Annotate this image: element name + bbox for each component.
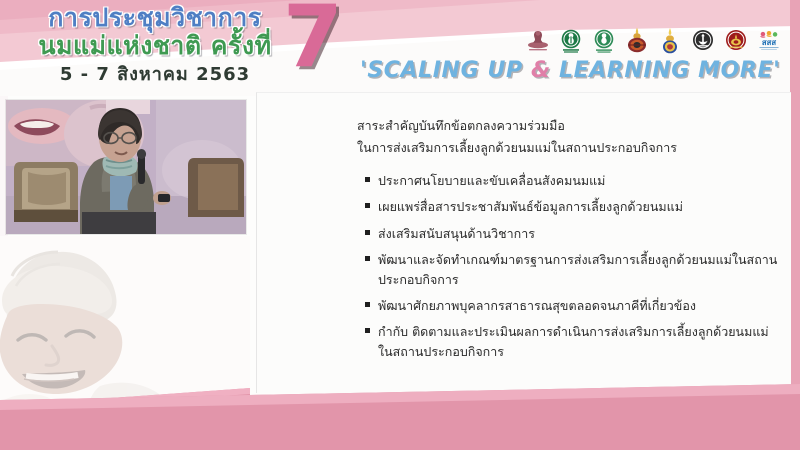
content-heading-line1: สาระสำคัญบันทึกข้อตกลงความร่วมมือ (357, 115, 777, 137)
list-item: ส่งเสริมสนับสนุนด้านวิชาการ (365, 224, 780, 243)
list-item: กำกับ ติดตามและประเมินผลการดำเนินการส่งเ… (365, 322, 780, 361)
square-bullet-icon (365, 256, 370, 261)
list-item-label: ส่งเสริมสนับสนุนด้านวิชาการ (378, 224, 780, 243)
list-item-label: เผยแพร่สื่อสารประชาสัมพันธ์ข้อมูลการเลี้… (378, 197, 780, 216)
tagline-ampersand: & (531, 58, 551, 83)
square-bullet-icon (365, 328, 370, 333)
conference-date-range: 5 - 7 สิงหาคม 2563 (14, 65, 296, 85)
list-item: พัฒนาศักยภาพบุคลากรสาธารณสุขตลอดจนภาคีที… (365, 296, 780, 315)
square-bullet-icon (365, 177, 370, 182)
ministry-of-public-health-logo (558, 26, 584, 56)
content-heading-line2: ในการส่งเสริมการเลี้ยงลูกด้วยนมแม่ในสถาน… (357, 137, 777, 159)
content-bullet-list: ประกาศนโยบายและขับเคลื่อนสังคมนมแม่ เผยแ… (365, 171, 780, 368)
square-bullet-icon (365, 203, 370, 208)
slide-content-panel: สาระสำคัญบันทึกข้อตกลงความร่วมมือ ในการส… (256, 92, 791, 393)
red-institutional-seal-logo (723, 26, 749, 56)
speaker-presentation-photo (6, 100, 246, 234)
conference-title-line1: การประชุมวิชาการ (14, 4, 296, 31)
list-item-label: พัฒนาศักยภาพบุคลากรสาธารณสุขตลอดจนภาคีที… (378, 296, 780, 315)
garuda-emblem-logo (657, 26, 683, 56)
smiling-child-watermark-photo (0, 236, 250, 422)
square-bullet-icon (365, 302, 370, 307)
tagline-suffix: LEARNING MORE' (551, 58, 781, 83)
conference-title-line2: นมแม่แห่งชาติ ครั้งที่ (14, 32, 296, 59)
list-item: เผยแพร่สื่อสารประชาสัมพันธ์ข้อมูลการเลี้… (365, 197, 780, 216)
university-seal-logo (690, 26, 716, 56)
list-item: พัฒนาและจัดทำเกณฑ์มาตรฐานการส่งเสริมการเ… (365, 250, 780, 289)
sponsor-logo-row: สสส (525, 24, 782, 58)
content-heading: สาระสำคัญบันทึกข้อตกลงความร่วมมือ ในการส… (357, 115, 777, 158)
conference-tagline: 'SCALING UP & LEARNING MORE' (360, 58, 780, 83)
list-item-label: พัฒนาและจัดทำเกณฑ์มาตรฐานการส่งเสริมการเ… (378, 250, 780, 289)
square-bullet-icon (365, 230, 370, 235)
conference-edition-number: 7 (283, 0, 343, 80)
thaihealth-sso-logo: สสส (756, 26, 782, 56)
conference-title-block: การประชุมวิชาการ นมแม่แห่งชาติ ครั้งที่ … (14, 4, 296, 85)
list-item-label: ประกาศนโยบายและขับเคลื่อนสังคมนมแม่ (378, 171, 780, 190)
presentation-slide: การประชุมวิชาการ นมแม่แห่งชาติ ครั้งที่ … (0, 0, 800, 450)
svg-text:สสส: สสส (762, 38, 777, 47)
right-pink-edge-band (791, 0, 800, 450)
royal-crest-emblem-logo (624, 26, 650, 56)
royal-patronage-seal-logo (525, 26, 551, 56)
list-item-label: กำกับ ติดตามและประเมินผลการดำเนินการส่งเ… (378, 322, 780, 361)
department-of-health-logo (591, 26, 617, 56)
tagline-prefix: 'SCALING UP (360, 58, 531, 83)
list-item: ประกาศนโยบายและขับเคลื่อนสังคมนมแม่ (365, 171, 780, 190)
